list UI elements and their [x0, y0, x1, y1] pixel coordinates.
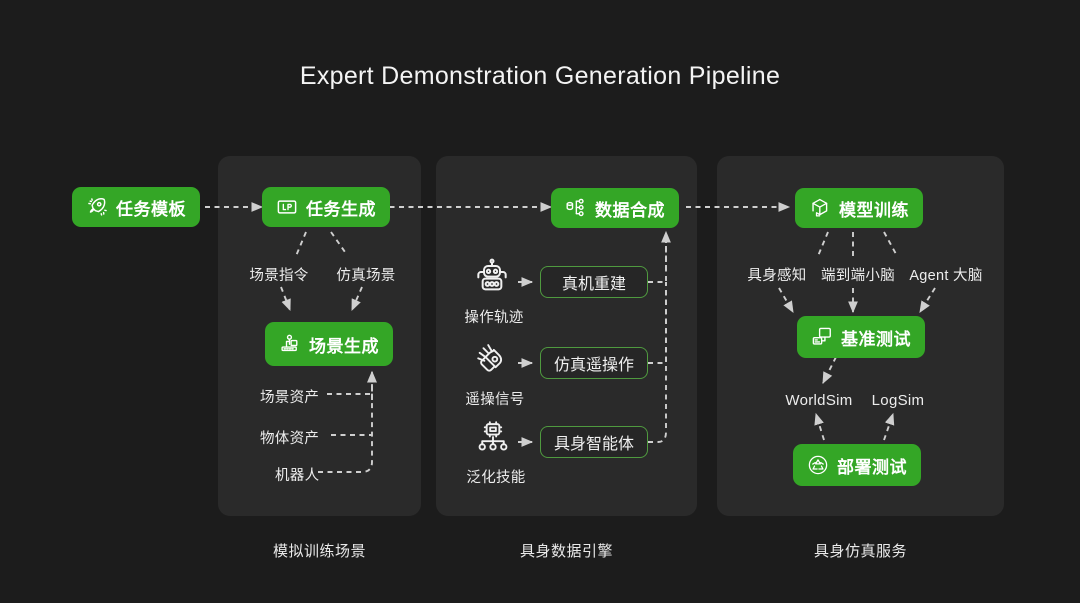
label-scene-instruction: 场景指令	[249, 264, 308, 285]
node-label: 任务生成	[306, 195, 376, 220]
caption-column-1: 模拟训练场景	[218, 540, 421, 561]
robot-arm-icon	[279, 333, 301, 355]
node-label: 数据合成	[595, 196, 665, 221]
glove-icon	[473, 340, 511, 378]
node-label: 基准测试	[841, 325, 911, 350]
node-label: 场景生成	[309, 332, 379, 357]
node-benchmark-test[interactable]: 基准测试	[797, 316, 925, 358]
label-teleop-signal: 遥操信号	[465, 388, 524, 409]
label-object-asset: 物体资产	[260, 427, 319, 448]
node-label: 部署测试	[837, 453, 907, 478]
pl-frame-icon	[276, 196, 298, 218]
label-generalization-skill: 泛化技能	[466, 466, 525, 487]
label-robot: 机器人	[275, 464, 319, 485]
diagram-canvas: Expert Demonstration Generation Pipeline	[0, 0, 1080, 603]
recycle-circle-icon	[807, 454, 829, 476]
node-task-template[interactable]: 任务模板	[72, 187, 200, 227]
node-task-generation[interactable]: 任务生成	[262, 187, 390, 227]
label-embodied-perception: 具身感知	[747, 264, 806, 285]
node-scene-generation[interactable]: 场景生成	[265, 322, 393, 366]
node-data-synthesis[interactable]: 数据合成	[551, 188, 679, 228]
label-worldsim: WorldSim	[785, 392, 852, 409]
label-operation-trajectory: 操作轨迹	[464, 306, 523, 327]
data-nodes-icon	[565, 197, 587, 219]
chip-network-icon	[474, 420, 512, 458]
label-sim-scene: 仿真场景	[336, 264, 395, 285]
box-sim-teleoperation[interactable]: 仿真遥操作	[540, 347, 648, 379]
node-model-training[interactable]: 模型训练	[795, 188, 923, 228]
label-scene-asset: 场景资产	[260, 386, 319, 407]
monitor-device-icon	[811, 326, 833, 348]
box-embodied-agent[interactable]: 具身智能体	[540, 426, 648, 458]
robot-head-icon	[472, 258, 512, 298]
page-title: Expert Demonstration Generation Pipeline	[0, 62, 1080, 91]
label-logsim: LogSim	[872, 392, 925, 409]
caption-column-2: 具身数据引擎	[436, 540, 697, 561]
cube-refresh-icon	[809, 197, 831, 219]
rocket-icon	[86, 196, 108, 218]
box-real-machine-reconstruction[interactable]: 真机重建	[540, 266, 648, 298]
node-label: 模型训练	[839, 196, 909, 221]
node-label: 任务模板	[116, 195, 186, 220]
caption-column-3: 具身仿真服务	[717, 540, 1004, 561]
label-end-to-end-cerebellum: 端到端小脑	[821, 264, 895, 285]
label-agent-brain: Agent 大脑	[909, 264, 982, 285]
node-deploy-test[interactable]: 部署测试	[793, 444, 921, 486]
